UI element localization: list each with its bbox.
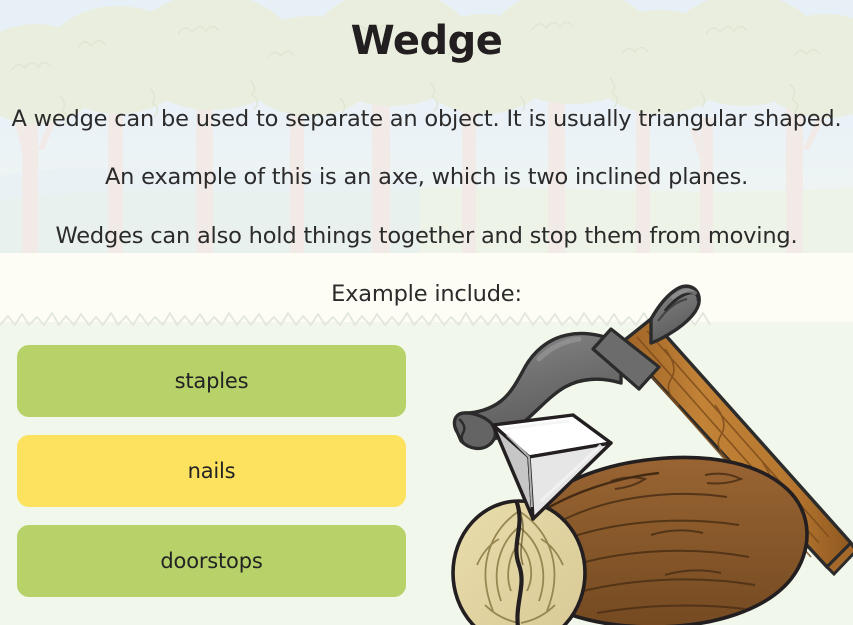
body-line-1: A wedge can be used to separate an objec… [0,106,853,132]
log-illustration [453,457,807,625]
hammer-wedge-log-illustration [415,275,853,625]
body-line-3: Wedges can also hold things together and… [0,223,853,249]
answer-option-doorstops[interactable]: doorstops [17,525,406,597]
slide-canvas: Wedge A wedge can be used to separate an… [0,0,853,625]
answer-option-nails[interactable]: nails [17,435,406,507]
answer-option-staples[interactable]: staples [17,345,406,417]
body-line-2: An example of this is an axe, which is t… [0,164,853,190]
page-title: Wedge [0,18,853,64]
